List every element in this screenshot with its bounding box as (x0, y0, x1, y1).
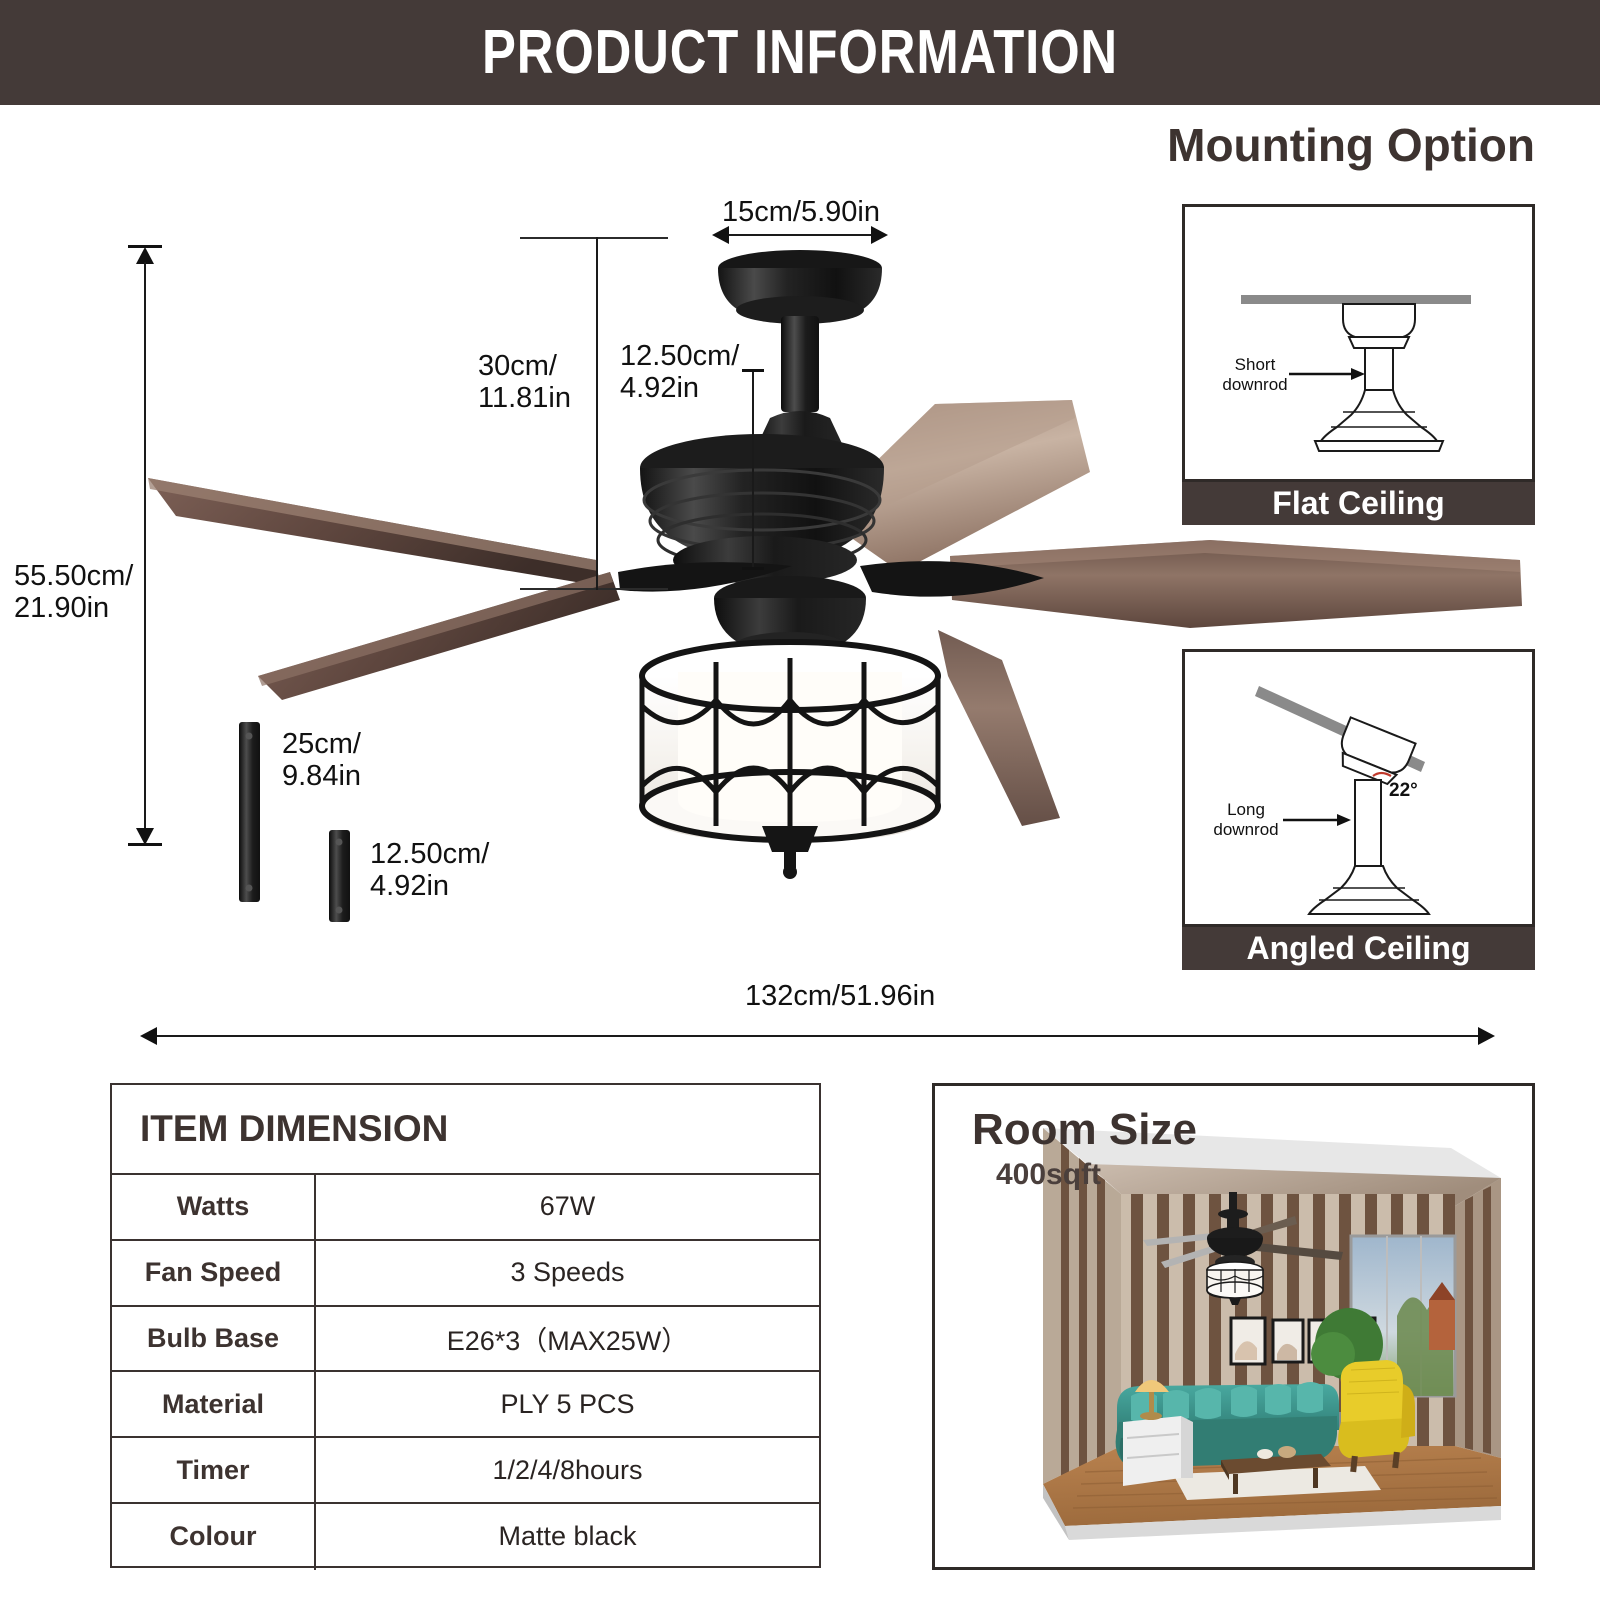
table-cell-key: Colour (112, 1504, 316, 1570)
blade-span-line (150, 1035, 1482, 1037)
overall-height-cap-top (128, 245, 162, 248)
flat-ceiling-diagram-box: Short downrod (1182, 204, 1535, 482)
table-cell-key: Bulb Base (112, 1307, 316, 1371)
canopy-width-arrow-right (871, 226, 888, 244)
table-cell-value: PLY 5 PCS (316, 1372, 819, 1436)
blade-span-arrow-left (140, 1027, 157, 1045)
item-dimension-table: ITEM DIMENSION Watts 67W Fan Speed 3 Spe… (110, 1083, 821, 1568)
flat-ceiling-label: Flat Ceiling (1182, 482, 1535, 525)
overall-height-label: 55.50cm/ 21.90in (14, 560, 133, 625)
angled-ceiling-angle-label: 22° (1389, 780, 1418, 802)
flat-ceiling-mount-icon (1185, 207, 1532, 479)
downrod-installed-cap-top (742, 369, 764, 372)
flat-ceiling-note: Short downrod (1201, 355, 1309, 394)
downrod-installed-label: 12.50cm/ 4.92in (620, 340, 739, 405)
table-cell-key: Material (112, 1372, 316, 1436)
angled-ceiling-diagram-box: Long downrod 22° (1182, 649, 1535, 927)
table-cell-value: 3 Speeds (316, 1241, 819, 1305)
blade-span-arrow-right (1478, 1027, 1495, 1045)
table-row: Bulb Base E26*3（MAX25W） (112, 1307, 819, 1373)
table-cell-key: Watts (112, 1175, 316, 1239)
blade-span-label: 132cm/51.96in (745, 980, 935, 1012)
table-cell-value: 67W (316, 1175, 819, 1239)
table-row: Material PLY 5 PCS (112, 1372, 819, 1438)
table-row: Watts 67W (112, 1175, 819, 1241)
downrod-installed-cap-bottom (742, 567, 764, 570)
room-size-box (932, 1083, 1535, 1570)
downrod-installed-line (752, 370, 754, 570)
item-dimension-title: ITEM DIMENSION (112, 1085, 819, 1175)
table-cell-key: Timer (112, 1438, 316, 1502)
canopy-width-arrow-left (712, 226, 729, 244)
room-size-title: Room Size (972, 1105, 1197, 1155)
body-height-label: 30cm/ 11.81in (478, 350, 571, 415)
overall-height-line (144, 262, 146, 828)
body-height-tick-top (520, 237, 668, 239)
product-information-page: PRODUCT INFORMATION (0, 0, 1600, 1600)
body-height-line (596, 237, 598, 590)
short-downrod-label: 12.50cm/ 4.92in (370, 838, 489, 903)
table-row: Timer 1/2/4/8hours (112, 1438, 819, 1504)
room-size-area: 400sqft (996, 1158, 1101, 1192)
long-downrod-label: 25cm/ 9.84in (282, 728, 361, 793)
table-cell-value: Matte black (316, 1504, 819, 1570)
overall-height-cap-bottom (128, 843, 162, 846)
canopy-width-label: 15cm/5.90in (722, 196, 880, 228)
body-height-tick-bottom (520, 588, 668, 590)
table-cell-value: E26*3（MAX25W） (316, 1307, 819, 1371)
angled-ceiling-label: Angled Ceiling (1182, 927, 1535, 970)
angled-ceiling-mount-icon (1185, 652, 1532, 924)
table-cell-key: Fan Speed (112, 1241, 316, 1305)
table-row: Colour Matte black (112, 1504, 819, 1570)
mounting-option-title: Mounting Option (1155, 118, 1535, 172)
table-cell-value: 1/2/4/8hours (316, 1438, 819, 1502)
angled-ceiling-note: Long downrod (1193, 800, 1299, 839)
table-row: Fan Speed 3 Speeds (112, 1241, 819, 1307)
canopy-width-line (726, 234, 874, 236)
